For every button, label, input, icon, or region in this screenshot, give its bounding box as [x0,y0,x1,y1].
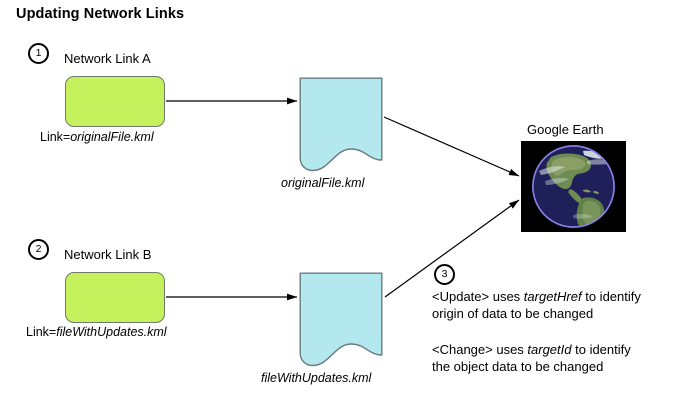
networklink-b-link-prefix: Link= [26,325,56,339]
google-earth-globe-icon [521,141,626,232]
step-marker-3: 3 [434,264,455,285]
document-file-with-updates [299,272,383,367]
note-change-before: <Change> uses [432,342,527,357]
note-change-emphasis: targetId [527,342,571,357]
note-change: <Change> uses targetId to identify the o… [432,341,682,375]
note-change-after: to identify [572,342,631,357]
note-update-line-1: <Update> uses targetHref to identify [432,288,682,305]
step-marker-1: 1 [28,43,49,64]
networklink-a-title: Network Link A [64,51,151,66]
note-update: <Update> uses targetHref to identify ori… [432,288,682,322]
step-marker-2: 2 [28,239,49,260]
networklink-b-link-label: Link=fileWithUpdates.kml [26,325,167,339]
networklink-a-box [65,76,165,127]
document-original-file-label: originalFile.kml [281,176,364,190]
note-change-line-2: the object data to be changed [432,358,682,375]
networklink-b-title: Network Link B [64,247,151,262]
step-marker-2-number: 2 [36,244,42,255]
step-marker-1-number: 1 [36,48,42,59]
note-update-line-2: origin of data to be changed [432,305,682,322]
networklink-a-link-value: originalFile.kml [70,130,153,144]
networklink-b-link-value: fileWithUpdates.kml [56,325,166,339]
step-marker-3-number: 3 [442,269,448,280]
arrow-document-a-to-google-earth [384,117,519,176]
networklink-b-box [65,272,165,323]
network-links-diagram: Updating Network Links 1 Network Link A … [0,0,688,411]
note-update-after: to identify [582,289,641,304]
google-earth-title: Google Earth [527,122,604,137]
document-file-with-updates-label: fileWithUpdates.kml [261,371,371,385]
note-update-emphasis: targetHref [524,289,582,304]
document-original-file [299,77,383,172]
networklink-a-link-label: Link=originalFile.kml [40,130,154,144]
networklink-a-link-prefix: Link= [40,130,70,144]
note-update-before: <Update> uses [432,289,524,304]
note-change-line-1: <Change> uses targetId to identify [432,341,682,358]
page-title: Updating Network Links [16,6,184,22]
arrow-document-b-to-google-earth [385,200,519,297]
